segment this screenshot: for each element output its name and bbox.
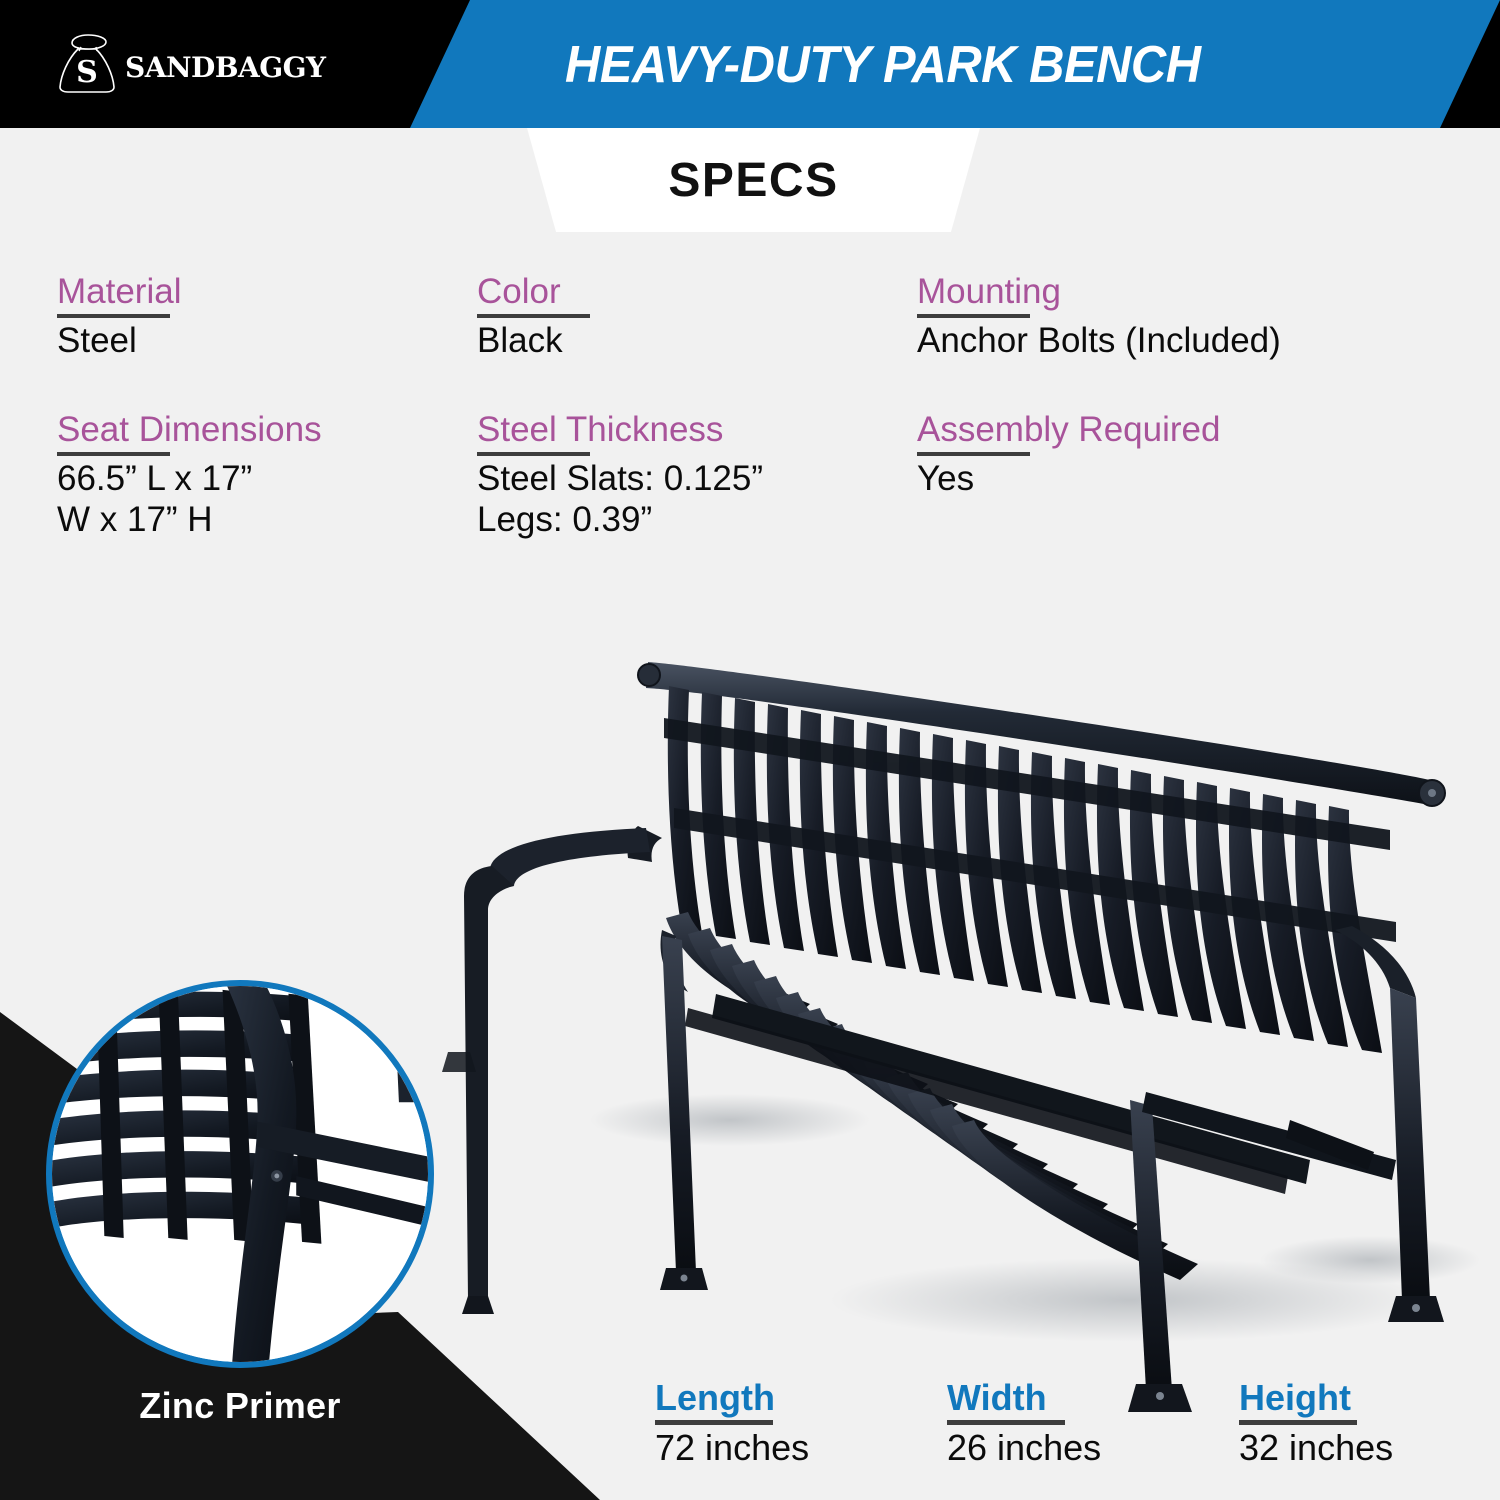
- dimension-item-height: Height 32 inches: [1239, 1378, 1499, 1468]
- page-title: HEAVY-DUTY PARK BENCH: [565, 35, 1201, 95]
- spec-label: Steel Thickness: [477, 410, 917, 449]
- spec-item-seat-dimensions: Seat Dimensions 66.5” L x 17” W x 17” H: [57, 410, 477, 540]
- sandbag-icon: S: [58, 33, 116, 95]
- spec-value: Steel: [57, 321, 477, 362]
- brand-name: SANDBAGGY: [125, 44, 326, 84]
- spec-item-assembly-required: Assembly Required Yes: [917, 410, 1457, 540]
- spec-value: 66.5” L x 17” W x 17” H: [57, 459, 477, 540]
- spec-item-color: Color Black: [477, 272, 917, 362]
- spec-value: Anchor Bolts (Included): [917, 321, 1457, 362]
- dimension-item-length: Length 72 inches: [655, 1378, 947, 1468]
- dimension-underline: [947, 1420, 1065, 1425]
- spec-label: Mounting: [917, 272, 1457, 311]
- spec-underline: [57, 314, 170, 318]
- dimension-underline: [1239, 1420, 1357, 1425]
- spec-label: Seat Dimensions: [57, 410, 477, 449]
- spec-underline: [477, 314, 590, 318]
- spec-label: Color: [477, 272, 917, 311]
- dimension-value: 32 inches: [1239, 1428, 1499, 1468]
- spec-label: Material: [57, 272, 477, 311]
- dimension-label: Height: [1239, 1378, 1499, 1418]
- spec-item-material: Material Steel: [57, 272, 477, 362]
- dimension-value: 26 inches: [947, 1428, 1239, 1468]
- spec-value: Yes: [917, 459, 1457, 500]
- zinc-primer-caption: Zinc Primer: [46, 1385, 434, 1427]
- dimension-label: Length: [655, 1378, 947, 1418]
- spec-grid: Material Steel Color Black Mounting Anch…: [57, 272, 1457, 540]
- spec-underline: [57, 452, 170, 456]
- header-bar: S SANDBAGGY HEAVY-DUTY PARK BENCH: [0, 0, 1500, 128]
- spec-value: Steel Slats: 0.125” Legs: 0.39”: [477, 459, 917, 540]
- svg-text:S: S: [76, 55, 98, 90]
- spec-underline: [917, 314, 1030, 318]
- spec-underline: [477, 452, 590, 456]
- specs-tab-label: SPECS: [668, 153, 838, 208]
- spec-label: Assembly Required: [917, 410, 1457, 449]
- spec-item-steel-thickness: Steel Thickness Steel Slats: 0.125” Legs…: [477, 410, 917, 540]
- spec-item-mounting: Mounting Anchor Bolts (Included): [917, 272, 1457, 362]
- dimensions-row: Length 72 inches Width 26 inches Height …: [655, 1378, 1499, 1468]
- spec-value: Black: [477, 321, 917, 362]
- zinc-primer-inset: [46, 980, 434, 1368]
- dimension-value: 72 inches: [655, 1428, 947, 1468]
- dimension-underline: [655, 1420, 773, 1425]
- park-bench-illustration: [430, 600, 1500, 1430]
- spec-underline: [917, 452, 1030, 456]
- bench-underside-closeup: [52, 986, 428, 1362]
- brand-logo: S SANDBAGGY: [58, 33, 326, 95]
- specs-tab: SPECS: [527, 128, 980, 232]
- dimension-item-width: Width 26 inches: [947, 1378, 1239, 1468]
- park-bench-photo: [430, 600, 1500, 1430]
- dimension-label: Width: [947, 1378, 1239, 1418]
